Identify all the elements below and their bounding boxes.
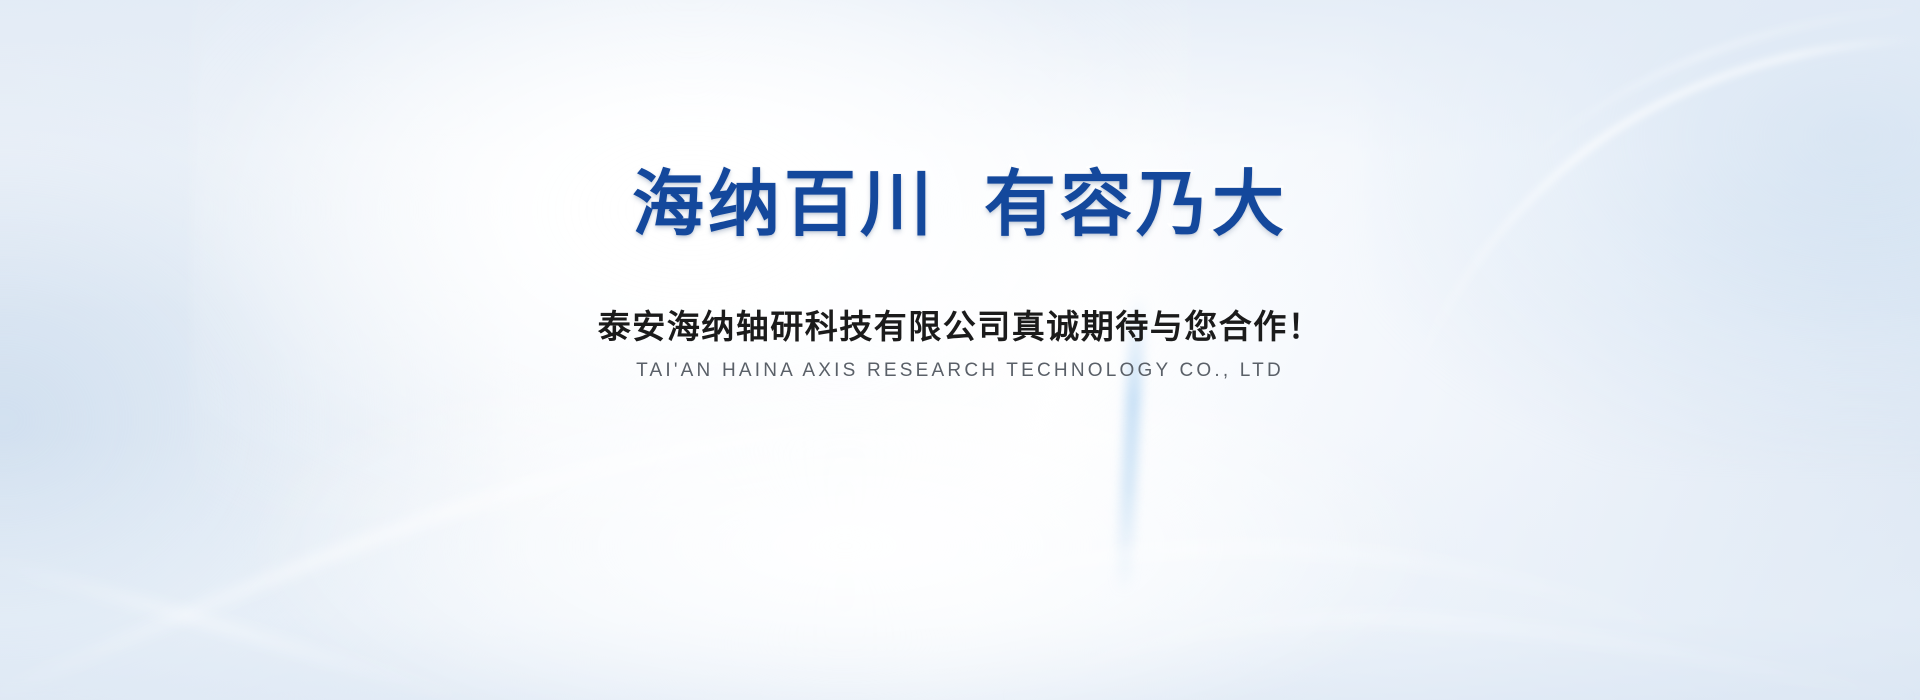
- hero-banner: 海纳百川 有容乃大 泰安海纳轴研科技有限公司真诚期待与您合作！ TAI'AN H…: [0, 0, 1920, 700]
- banner-subtitle-block: 泰安海纳轴研科技有限公司真诚期待与您合作！ TAI'AN HAINA AXIS …: [598, 300, 1323, 382]
- banner-subtitle-english: TAI'AN HAINA AXIS RESEARCH TECHNOLOGY CO…: [598, 360, 1323, 382]
- banner-subtitle-chinese: 泰安海纳轴研科技有限公司真诚期待与您合作！: [598, 300, 1323, 348]
- banner-content: 海纳百川 有容乃大 泰安海纳轴研科技有限公司真诚期待与您合作！ TAI'AN H…: [0, 0, 1920, 700]
- banner-headline: 海纳百川 有容乃大: [632, 168, 1288, 244]
